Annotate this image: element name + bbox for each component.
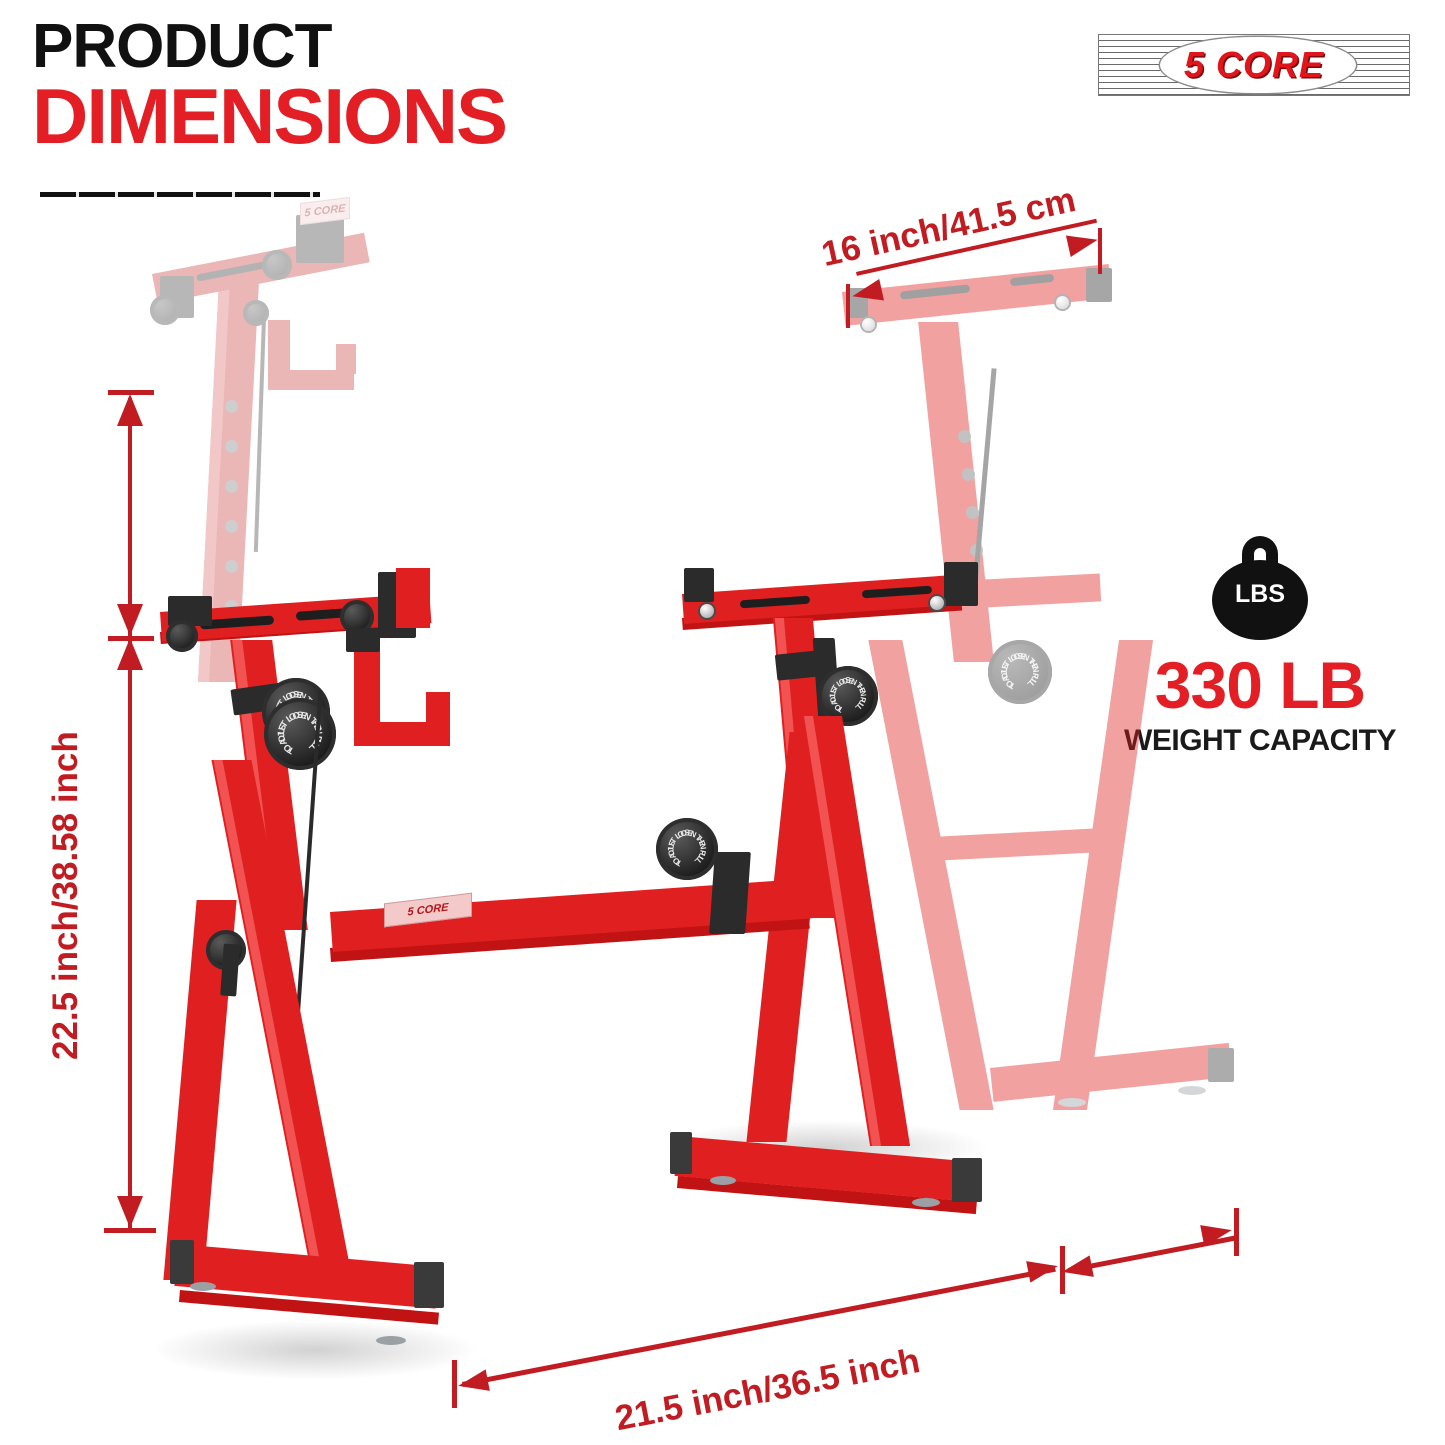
ghost-left-hook-tip [336, 344, 356, 374]
ghost-right-bolt-1 [862, 318, 875, 331]
dim-top-tick-right [1098, 228, 1102, 274]
brand-logo: 5 CORE [1098, 34, 1410, 96]
dim-base-arrow-left [456, 1369, 490, 1396]
dim-height-arrow-down-1 [117, 604, 143, 636]
main-right-tray-cap-left [684, 568, 714, 602]
dim-base-label: 21.5 inch/36.5 inch [612, 1341, 923, 1439]
main-right-base-cap-right [952, 1158, 982, 1202]
main-left-foot-2 [376, 1336, 406, 1345]
dim-height-line-lower [128, 640, 132, 1230]
dim-top-tick-left [846, 284, 850, 328]
main-left-leg-pin [220, 944, 240, 997]
title-line-product: PRODUCT [32, 18, 506, 77]
title-divider [40, 192, 320, 197]
main-left-tray-knob-left [166, 620, 198, 652]
main-right-base-cap-left [670, 1132, 692, 1174]
main-left-shadow [150, 1320, 480, 1380]
main-left-base-cap-left [170, 1240, 194, 1284]
main-left-hook-cap [346, 628, 380, 652]
weight-capacity-caption: WEIGHT CAPACITY [1110, 724, 1410, 758]
kettlebell-icon: LBS [1212, 536, 1308, 640]
main-left-knob-lower-label: TOADJUSTLOOSENTHENPULL [264, 698, 336, 770]
ghost-right-knob: TOADJUSTLOOSENTHENPULL [988, 640, 1052, 704]
weight-capacity-block: LBS 330 LB WEIGHT CAPACITY [1110, 536, 1410, 758]
dim-height-arrow-up-1 [117, 394, 143, 426]
main-left-base-cap-right [414, 1262, 444, 1308]
ghost-left-knob-a [150, 295, 180, 325]
ghost-right-bolt-2 [1056, 296, 1069, 309]
ghost-right-knob-label: TOADJUSTLOOSENTHENPULL [988, 640, 1052, 704]
infographic-canvas: PRODUCT DIMENSIONS 5 CORE LBS 330 LB WEI… [0, 0, 1445, 1445]
title-line-dimensions: DIMENSIONS [32, 79, 506, 153]
main-right-foot-1 [710, 1176, 736, 1185]
main-left-hook-tip [426, 692, 450, 728]
ghost-left-cable [254, 312, 266, 552]
crossbar-knob-label: TOADJUSTLOOSENTHENPULL [656, 818, 718, 880]
main-left-tray-post-right [396, 568, 430, 628]
main-right-tray-cap-right [944, 562, 978, 606]
page-title: PRODUCT DIMENSIONS [32, 18, 506, 153]
dim-base-tick-left [452, 1360, 457, 1408]
dim-base-arrow-mid-left [1060, 1255, 1094, 1282]
ghost-right-foot-1 [1058, 1098, 1086, 1107]
ghost-right-leg-back [1053, 640, 1153, 1110]
dim-height-arrow-up-2 [117, 638, 143, 670]
kettlebell-lbs-label: LBS [1212, 580, 1308, 609]
logo-text: 5 CORE [1098, 34, 1410, 96]
main-left-knob-lower[interactable]: TOADJUSTLOOSENTHENPULL [264, 698, 336, 770]
main-left-foot-1 [190, 1282, 216, 1291]
dim-height-arrow-down-2 [117, 1196, 143, 1228]
ghost-right-base-cap [1208, 1048, 1234, 1082]
dim-height-line-upper [128, 398, 132, 638]
main-right-tray-bolt-2 [930, 596, 944, 610]
ghost-right-cable [972, 368, 996, 588]
ghost-left-knob-b [262, 250, 292, 280]
crossbar-knob[interactable]: TOADJUSTLOOSENTHENPULL [656, 818, 718, 880]
dim-top-label: 16 inch/41.5 cm [818, 180, 1079, 275]
dim-top-arrow-right [1066, 229, 1100, 257]
dim-base-arrow-mid-right [1026, 1255, 1060, 1282]
dim-base-line-left [462, 1267, 1056, 1387]
weight-capacity-value: 330 LB [1110, 652, 1410, 718]
main-right-foot-2 [912, 1198, 940, 1207]
ghost-right-foot-2 [1178, 1086, 1206, 1095]
dim-base-arrow-right [1200, 1219, 1234, 1246]
dim-base-tick-right [1234, 1208, 1239, 1256]
dim-height-label: 22.5 inch/38.58 inch [46, 731, 86, 1060]
main-right-tray-bolt-1 [700, 604, 714, 618]
ghost-left-knob-c [243, 300, 269, 326]
